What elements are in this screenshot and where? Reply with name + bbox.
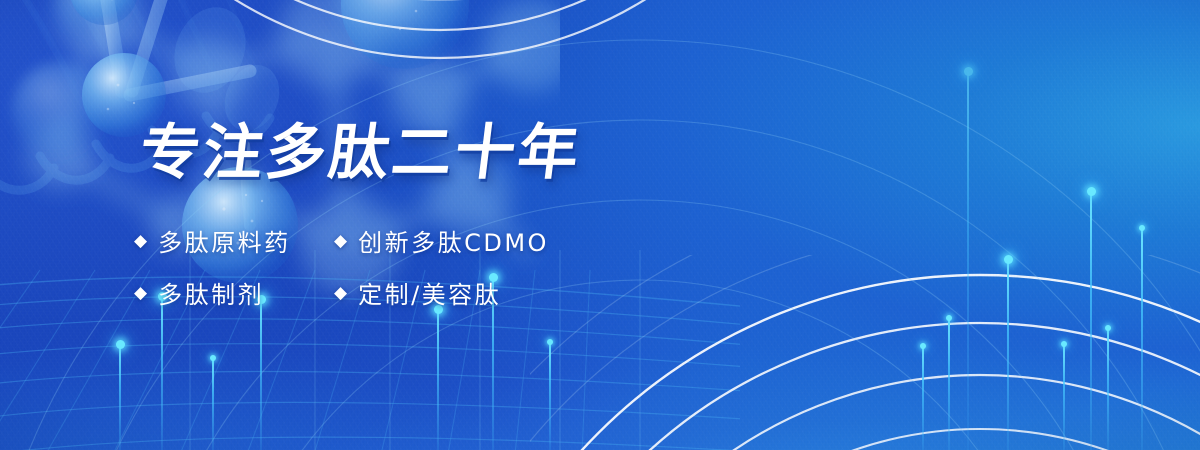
feature-label: 多肽原料药	[158, 223, 291, 258]
feature-label: 创新多肽CDMO	[358, 223, 549, 258]
feature-item-peptide-api[interactable]: ◆ 多肽原料药	[134, 223, 334, 258]
feature-label: 定制/美容肽	[358, 275, 501, 310]
feature-item-innovative-cdmo[interactable]: ◆ 创新多肽CDMO	[334, 223, 594, 258]
feature-item-custom-cosmetic-peptide[interactable]: ◆ 定制/美容肽	[334, 275, 594, 310]
hero-content: 专注多肽二十年 ◆ 多肽原料药 ◆ 创新多肽CDMO ◆ 多肽制剂 ◆	[0, 0, 700, 450]
diamond-bullet-icon: ◆	[134, 284, 147, 301]
page-title: 专注多肽二十年	[136, 122, 585, 185]
diamond-bullet-icon: ◆	[134, 232, 147, 249]
feature-row: ◆ 多肽原料药 ◆ 创新多肽CDMO	[134, 214, 604, 266]
diamond-bullet-icon: ◆	[334, 232, 347, 249]
feature-list: ◆ 多肽原料药 ◆ 创新多肽CDMO ◆ 多肽制剂 ◆ 定制/美容肽	[134, 214, 604, 318]
feature-label: 多肽制剂	[158, 275, 264, 310]
hero-banner: 专注多肽二十年 ◆ 多肽原料药 ◆ 创新多肽CDMO ◆ 多肽制剂 ◆	[0, 0, 1200, 450]
feature-item-peptide-formulation[interactable]: ◆ 多肽制剂	[134, 275, 334, 310]
feature-row: ◆ 多肽制剂 ◆ 定制/美容肽	[134, 266, 604, 318]
diamond-bullet-icon: ◆	[334, 284, 347, 301]
